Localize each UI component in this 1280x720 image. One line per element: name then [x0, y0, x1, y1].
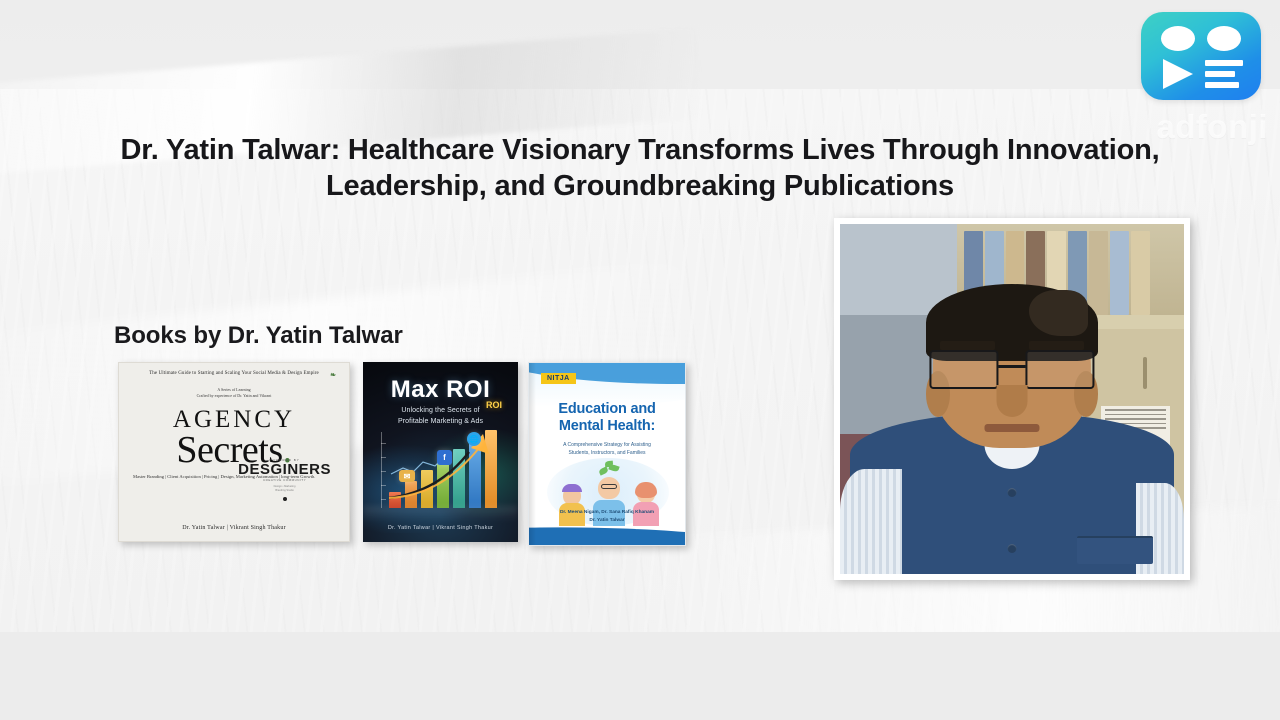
person-mouth — [984, 424, 1039, 433]
play-triangle-icon — [1163, 59, 1193, 89]
section-heading: Books by Dr. Yatin Talwar — [114, 322, 403, 350]
book1-tagline: The Ultimate Guide to Starting and Scali… — [133, 370, 335, 378]
facebook-icon: f — [437, 450, 452, 465]
book2-growth-arrow-icon — [387, 428, 505, 502]
book-cover-education-mental-health[interactable]: NITJA Education and Mental Health: A Com… — [528, 362, 686, 546]
book1-ornament-icon: ❧ — [330, 371, 336, 379]
logo-eye-right-icon — [1207, 26, 1241, 51]
list-lines-icon — [1205, 60, 1243, 93]
book3-authors-line-1: Dr. Meena Nigam, Dr. Sana Rafiq Khanam — [529, 509, 685, 517]
book3-title-line-2: Mental Health: — [537, 418, 677, 435]
envelope-icon: ✉ — [399, 470, 415, 482]
book2-reflection — [363, 506, 518, 522]
book3-spine-shadow — [529, 363, 536, 545]
jacket-button-top — [1008, 488, 1017, 497]
book1-publisher-name: DESGINERS — [238, 462, 331, 477]
eyeglasses-icon — [929, 350, 1094, 389]
book3-subtitle: A Comprehensive Strategy for Assisting S… — [543, 441, 671, 457]
book2-chart-axis — [381, 432, 382, 508]
book3-authors: Dr. Meena Nigam, Dr. Sana Rafiq Khanam D… — [529, 509, 685, 525]
book1-authors: Dr. Yatin Talwar | Vikrant Singh Thakur — [119, 525, 349, 531]
book-cover-agency-secrets[interactable]: ❧ The Ultimate Guide to Starting and Sca… — [118, 362, 350, 542]
slide-canvas: adfonji Dr. Yatin Talwar: Healthcare Vis… — [0, 0, 1280, 720]
book2-roi-label: ROI — [486, 400, 502, 410]
person-nose — [997, 385, 1028, 417]
book3-bottom-wave — [529, 523, 685, 545]
book2-authors: Dr. Yatin Talwar | Vikrant Singh Thakur — [363, 525, 518, 531]
person-eyebrow-left — [940, 341, 995, 350]
app-logo[interactable] — [1141, 12, 1261, 100]
background-band-bottom — [0, 632, 1280, 720]
book-cover-max-roi[interactable]: Max ROI Unlocking the Secrets of Profita… — [363, 362, 518, 542]
book3-title: Education and Mental Health: — [537, 401, 677, 435]
person-shirt-left — [840, 469, 902, 574]
book1-publisher-logo: POWERED BY DESGINERS CREATIVE COMMUNITY … — [238, 458, 331, 501]
book1-publisher-sub: CREATIVE COMMUNITY — [238, 478, 331, 482]
jacket-button-bottom — [1008, 544, 1017, 553]
person-eyebrow-right — [1029, 341, 1084, 350]
book2-bar-chart — [381, 428, 501, 508]
globe-icon: 🌐 — [467, 432, 481, 446]
book3-authors-line-2: Dr. Yatin Talwar — [529, 517, 685, 525]
book3-publisher-badge: NITJA — [541, 373, 576, 384]
jacket-pocket — [1077, 536, 1153, 564]
dr-yatin-talwar-photo — [840, 224, 1184, 574]
book1-publisher-dot-icon — [283, 497, 287, 501]
book1-publisher-sub2: Design • Marketing Branding Studio — [238, 485, 331, 493]
page-title: Dr. Yatin Talwar: Healthcare Visionary T… — [90, 133, 1190, 204]
book3-title-line-1: Education and — [537, 401, 677, 418]
portrait-frame — [834, 218, 1190, 580]
logo-eye-left-icon — [1161, 26, 1195, 51]
book1-secondary-line: A Series of Learning Crafted by experien… — [133, 387, 335, 400]
